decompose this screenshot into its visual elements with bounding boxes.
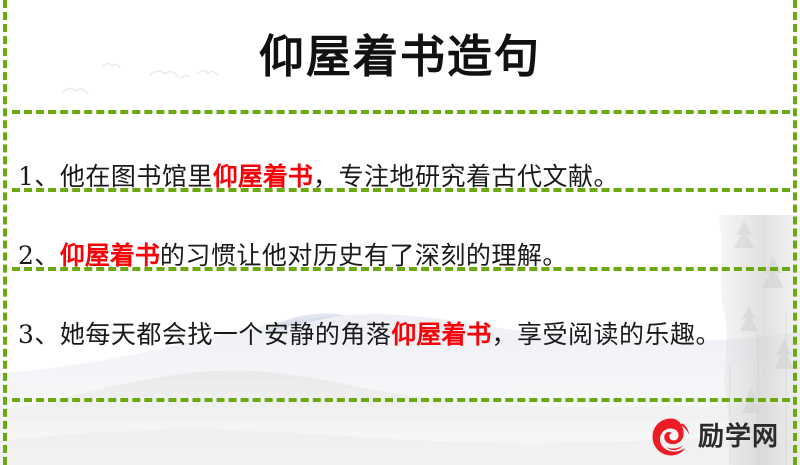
list-item: 1、他在图书馆里仰屋着书，专注地研究着古代文献。 xyxy=(18,155,766,199)
site-name: 励学网 xyxy=(698,424,779,450)
sentence-index: 2、 xyxy=(18,241,60,270)
divider-after-1 xyxy=(12,188,790,192)
frame-border-right xyxy=(793,0,797,465)
keyword-highlight: 仰屋着书 xyxy=(213,162,313,191)
list-item: 2、仰屋着书的习惯让他对历史有了深刻的理解。 xyxy=(18,234,766,278)
title-area: 仰屋着书造句 xyxy=(0,0,800,108)
sentence-text-after: 的习惯让他对历史有了深刻的理解。 xyxy=(160,241,568,270)
frame-border-left xyxy=(3,0,7,465)
sentence-text-after: ，享受阅读的乐趣。 xyxy=(491,320,721,349)
divider-after-3 xyxy=(12,398,790,402)
list-item: 3、她每天都会找一个安静的角落仰屋着书，享受阅读的乐趣。 xyxy=(18,313,766,357)
page-root: 仰屋着书造句 1、他在图书馆里仰屋着书，专注地研究着古代文献。 2、仰屋着书的习… xyxy=(0,0,800,465)
sentence-text-before: 他在图书馆里 xyxy=(60,162,213,191)
divider-top xyxy=(12,110,790,114)
sentence-index: 1、 xyxy=(18,162,60,191)
sentence-text-after: ，专注地研究着古代文献。 xyxy=(313,162,619,191)
keyword-highlight: 仰屋着书 xyxy=(60,241,160,270)
sentence-text-before: 她每天都会找一个安静的角落 xyxy=(60,320,392,349)
keyword-highlight: 仰屋着书 xyxy=(391,320,491,349)
divider-after-2 xyxy=(12,267,790,271)
site-watermark-logo: 励学网 xyxy=(650,413,795,461)
red-swirl-flame-icon xyxy=(650,416,692,458)
page-title: 仰屋着书造句 xyxy=(259,34,541,79)
sentence-index: 3、 xyxy=(18,320,60,349)
